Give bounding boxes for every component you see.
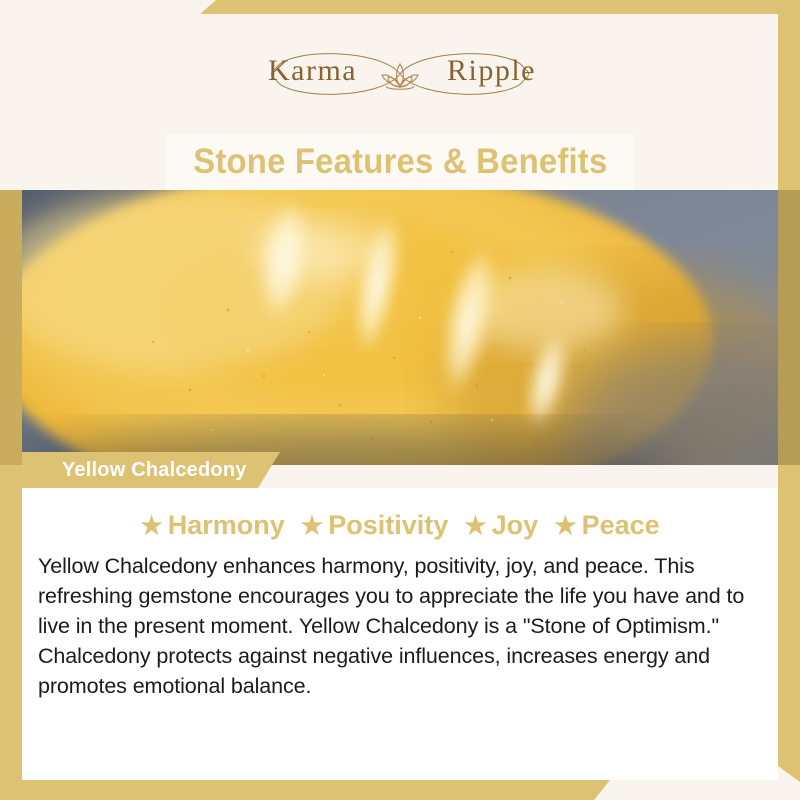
- section-title-banner: Stone Features & Benefits: [165, 134, 635, 190]
- logo-word-left: Karma: [268, 54, 357, 88]
- keyword-label: Peace: [582, 510, 660, 541]
- stone-name-banner: Yellow Chalcedony: [22, 452, 280, 488]
- star-icon: ★: [464, 514, 489, 539]
- logo-mark: Karma Ripple: [260, 46, 540, 102]
- keyword-label: Positivity: [328, 510, 448, 541]
- logo-word-right: Ripple: [447, 54, 536, 88]
- stone-photo: [22, 190, 778, 465]
- stone-name-label: Yellow Chalcedony: [62, 459, 247, 482]
- gold-band-left-overlay: [0, 190, 22, 465]
- stone-info-card: Karma Ripple Stone Features & Benefits: [0, 0, 800, 800]
- keyword-item: ★Positivity: [301, 510, 448, 541]
- content-panel: ★Harmony ★Positivity ★Joy ★Peace Yellow …: [22, 488, 778, 780]
- star-icon: ★: [140, 514, 165, 539]
- stone-description: Yellow Chalcedony enhances harmony, posi…: [38, 551, 762, 701]
- gold-band-right-overlay: [778, 190, 800, 465]
- stone-photo-illustration: [22, 190, 778, 465]
- gold-band-bottom: [0, 780, 610, 800]
- star-icon: ★: [554, 514, 579, 539]
- keyword-item: ★Joy: [464, 510, 538, 541]
- keyword-item: ★Harmony: [140, 510, 284, 541]
- gold-band-top: [200, 0, 800, 14]
- keyword-label: Joy: [492, 510, 539, 541]
- lotus-icon: [382, 64, 418, 89]
- brand-logo: Karma Ripple: [0, 44, 800, 104]
- keyword-label: Harmony: [168, 510, 285, 541]
- star-icon: ★: [301, 514, 326, 539]
- keyword-item: ★Peace: [554, 510, 660, 541]
- page-title: Stone Features & Benefits: [193, 142, 607, 182]
- keyword-list: ★Harmony ★Positivity ★Joy ★Peace: [22, 510, 778, 541]
